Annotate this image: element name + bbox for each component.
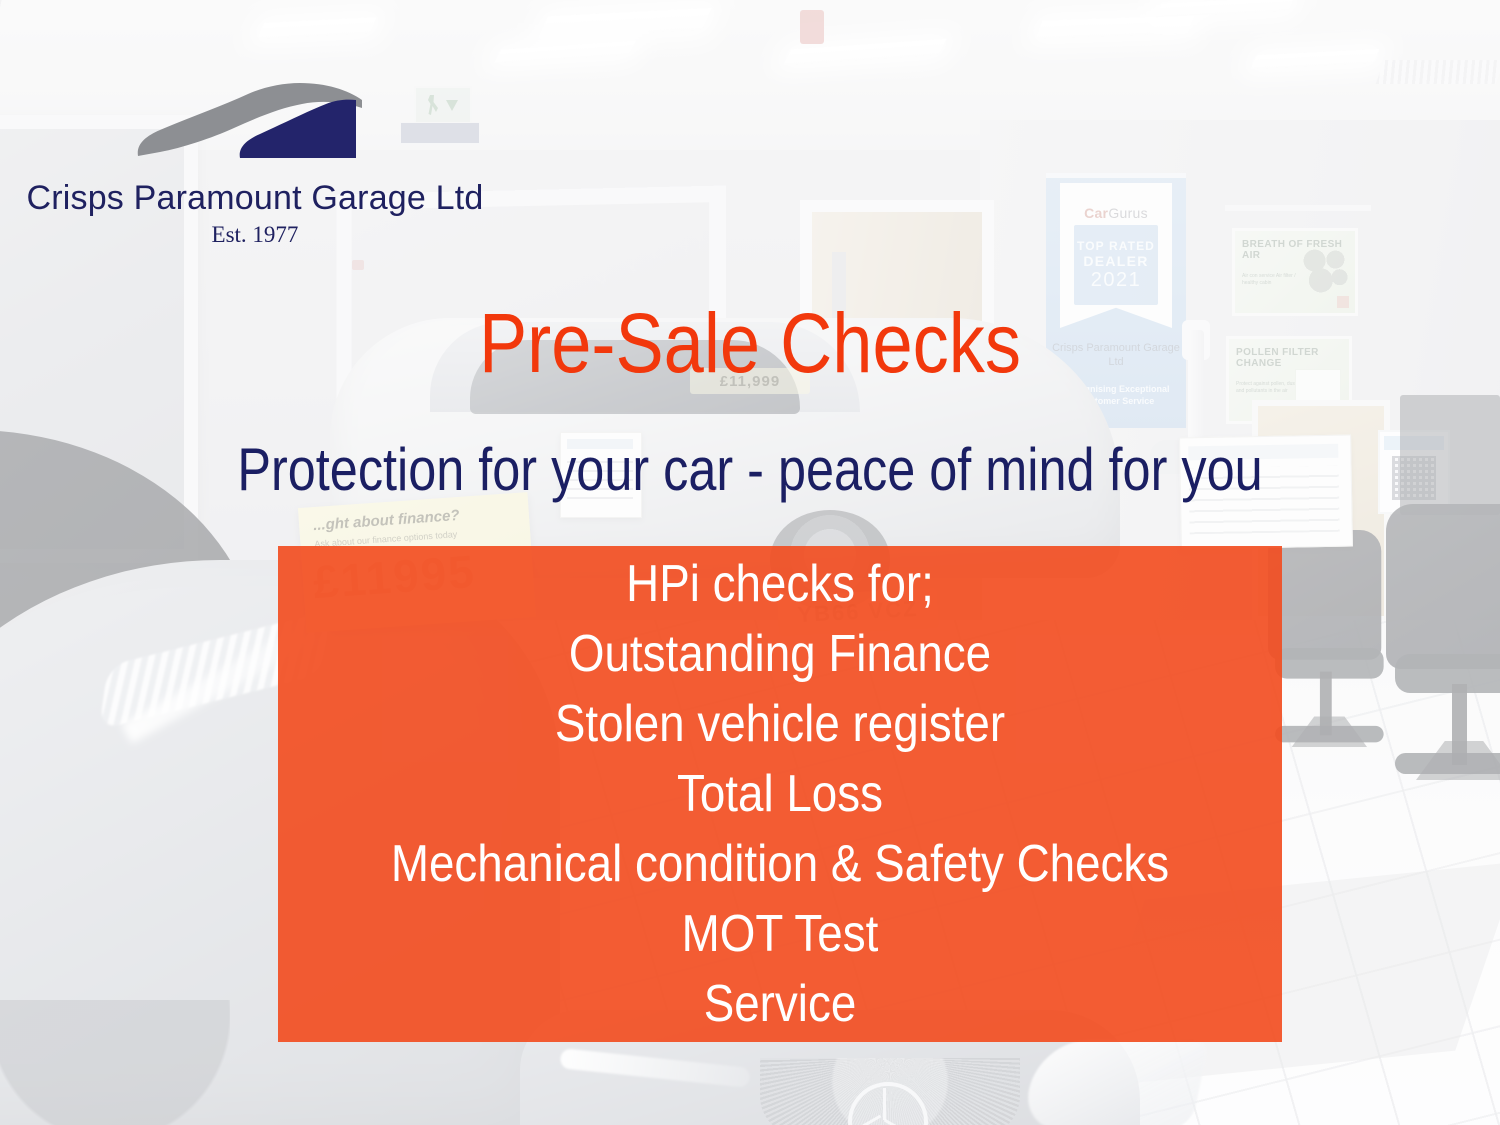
- company-name: Crisps Paramount Garage Ltd: [20, 179, 490, 218]
- pre-sale-checks-panel: HPi checks for; Outstanding Finance Stol…: [278, 546, 1282, 1042]
- list-item: Service: [338, 969, 1222, 1039]
- page-title: Pre-Sale Checks: [105, 295, 1395, 391]
- banner-top-bar: [1046, 173, 1186, 178]
- company-logo-block: Crisps Paramount Garage Ltd Est. 1977: [20, 78, 490, 248]
- list-item: MOT Test: [338, 899, 1222, 969]
- chair-base: [1395, 753, 1500, 774]
- list-item: Stolen vehicle register: [338, 689, 1222, 759]
- chair-backrest: [1386, 504, 1500, 669]
- checks-list: HPi checks for; Outstanding Finance Stol…: [278, 549, 1282, 1039]
- desk-monitor: [1400, 395, 1500, 515]
- chair-backrest: [1268, 530, 1381, 660]
- ceiling-alarm-device: [800, 10, 824, 44]
- cargurus-gurus-word: Gurus: [1108, 205, 1148, 221]
- slide-canvas: CarGurus TOP RATED DEALER 2021 Crisps Pa…: [0, 0, 1500, 1125]
- badge-year: 2021: [1091, 269, 1142, 292]
- list-item: HPi checks for;: [338, 549, 1222, 619]
- list-item: Mechanical condition & Safety Checks: [338, 829, 1222, 899]
- ceiling-vent: [1376, 60, 1500, 84]
- badge-line-1: TOP RATED: [1077, 239, 1155, 253]
- car-silhouette-logo-icon: [130, 78, 380, 173]
- list-item: Total Loss: [338, 759, 1222, 829]
- poster-rail: [1225, 205, 1371, 211]
- car-wheel-arch: [0, 1000, 230, 1125]
- cargurus-wordmark: CarGurus: [1060, 205, 1172, 221]
- flower-graphic-icon: [1299, 245, 1351, 297]
- list-item: Outstanding Finance: [338, 619, 1222, 689]
- badge-line-2: DEALER: [1083, 253, 1148, 269]
- top-rated-dealer-badge: TOP RATED DEALER 2021: [1074, 225, 1158, 305]
- page-subtitle: Protection for your car - peace of mind …: [120, 434, 1380, 506]
- fire-alarm-point: [352, 260, 364, 270]
- chair-seat: [1395, 654, 1500, 693]
- established-year: Est. 1977: [20, 222, 490, 248]
- cargurus-car-word: Car: [1084, 205, 1108, 221]
- chair-base: [1275, 726, 1384, 743]
